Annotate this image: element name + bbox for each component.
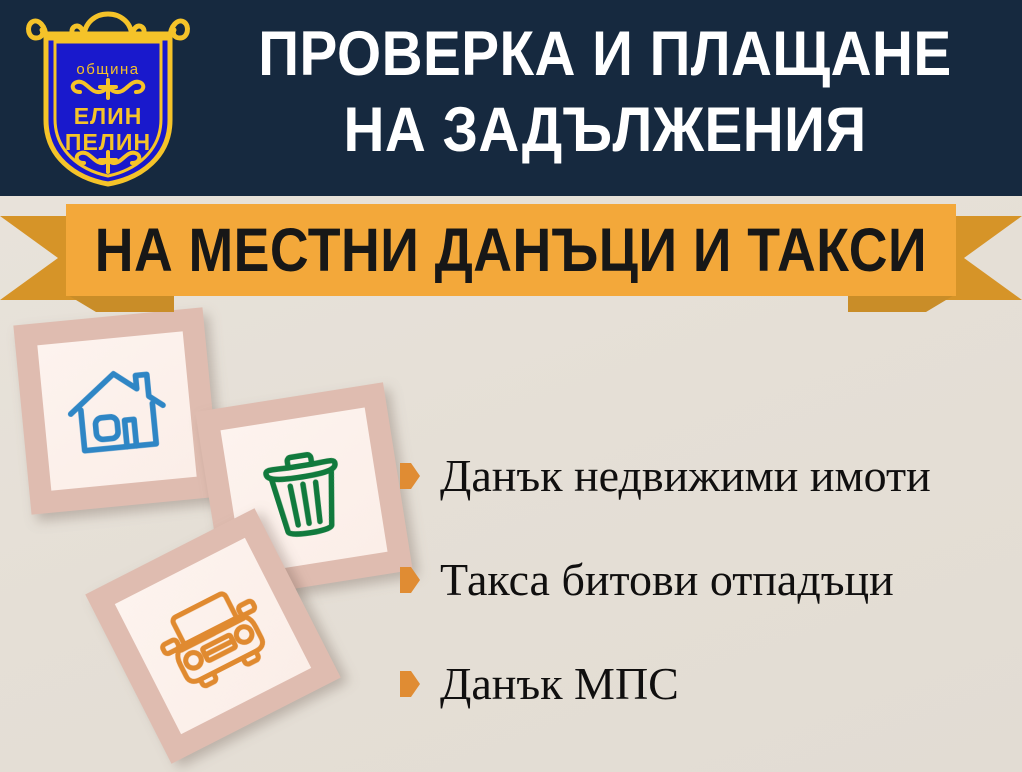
list-item[interactable]: Данък недвижими имоти xyxy=(400,424,1010,528)
list-item-label: Такса битови отпадъци xyxy=(440,557,894,603)
ribbon-fold-right xyxy=(848,294,956,312)
list-item-label: Данък недвижими имоти xyxy=(440,453,931,499)
page-title: ПРОВЕРКА И ПЛАЩАНЕ НА ЗАДЪЛЖЕНИЯ xyxy=(200,16,1010,168)
title-line-2: НА ЗАДЪЛЖЕНИЯ xyxy=(241,92,970,168)
header-bar: община ЕЛИН ПЕЛИН xyxy=(0,0,1022,196)
crest-icon: община ЕЛИН ПЕЛИН xyxy=(22,8,194,190)
list-item[interactable]: Такса битови отпадъци xyxy=(400,528,1010,632)
list-item-label: Данък МПС xyxy=(440,661,679,707)
arrow-bullet-icon xyxy=(400,463,420,489)
trash-can-icon xyxy=(251,434,358,548)
tax-type-list: Данък недвижими имоти Такса битови отпад… xyxy=(400,424,1010,736)
title-line-1: ПРОВЕРКА И ПЛАЩАНЕ xyxy=(241,16,970,92)
list-item[interactable]: Данък МПС xyxy=(400,632,1010,736)
arrow-bullet-icon xyxy=(400,567,420,593)
house-icon xyxy=(61,359,174,464)
ribbon-label: НА МЕСТНИ ДАНЪЦИ И ТАКСИ xyxy=(95,215,927,285)
house-icon-wrap xyxy=(37,331,196,490)
stamp-card-house xyxy=(13,307,220,514)
car-front-icon xyxy=(143,570,283,702)
arrow-bullet-icon xyxy=(400,671,420,697)
ribbon-banner: НА МЕСТНИ ДАНЪЦИ И ТАКСИ xyxy=(66,204,956,296)
logo-word-municipality: община xyxy=(76,61,139,78)
logo-word-name-1: ЕЛИН xyxy=(74,103,143,129)
poster-root: община ЕЛИН ПЕЛИН xyxy=(0,0,1022,772)
municipality-logo: община ЕЛИН ПЕЛИН xyxy=(22,8,194,190)
ribbon-fold-left xyxy=(66,294,174,312)
subtitle-ribbon: НА МЕСТНИ ДАНЪЦИ И ТАКСИ xyxy=(0,196,1022,314)
